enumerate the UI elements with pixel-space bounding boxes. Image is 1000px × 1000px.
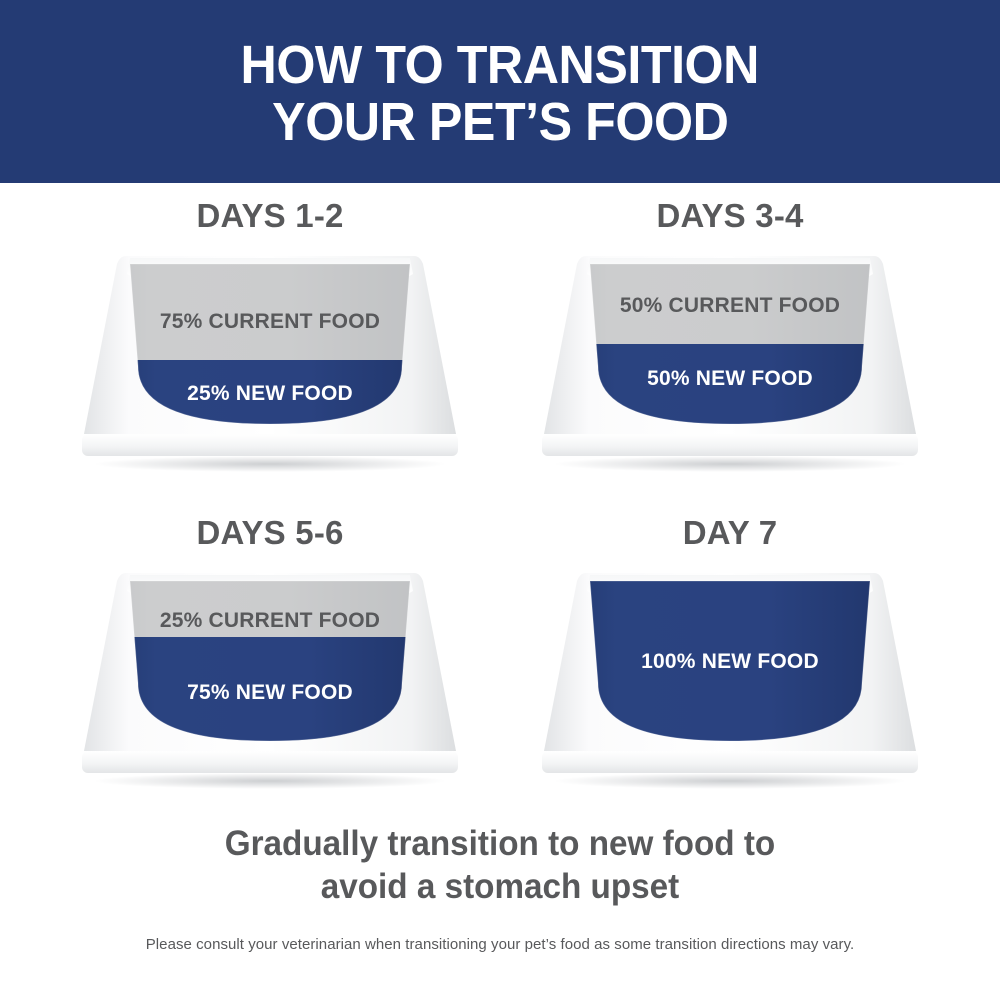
header-banner: HOW TO TRANSITION YOUR PET’S FOOD (0, 0, 1000, 183)
steps-row-bottom: DAYS 5-6 (0, 514, 1000, 795)
steps-grid: DAYS 1-2 (0, 183, 1000, 795)
drop-shadow (554, 456, 906, 472)
step-panel-days-1-2: DAYS 1-2 (40, 197, 500, 478)
step-panel-day-7: DAY 7 (500, 514, 960, 795)
step-title: DAY 7 (683, 514, 778, 552)
feeder-base (82, 434, 458, 456)
footer-disclaimer: Please consult your veterinarian when tr… (0, 936, 1000, 953)
step-title: DAYS 5-6 (196, 514, 343, 552)
step-title: DAYS 3-4 (656, 197, 803, 235)
drop-shadow (94, 773, 446, 789)
bowl-svg (80, 248, 460, 478)
drop-shadow (554, 773, 906, 789)
footer: Gradually transition to new food to avoi… (0, 823, 1000, 953)
header-title-line1: HOW TO TRANSITION (241, 37, 759, 94)
steps-row-top: DAYS 1-2 (0, 197, 1000, 478)
header-title-line2: YOUR PET’S FOOD (272, 94, 728, 151)
bowl-illustration: 50% CURRENT FOOD 50% NEW FOOD (540, 248, 920, 478)
bowl-svg (540, 248, 920, 478)
step-panel-days-3-4: DAYS 3-4 (500, 197, 960, 478)
bowl-svg (80, 565, 460, 795)
step-title: DAYS 1-2 (196, 197, 343, 235)
bowl-illustration: 100% NEW FOOD (540, 565, 920, 795)
bowl-svg (540, 565, 920, 795)
bowl-illustration: 75% CURRENT FOOD 25% NEW FOOD (80, 248, 460, 478)
feeder-base (542, 751, 918, 773)
step-panel-days-5-6: DAYS 5-6 (40, 514, 500, 795)
footer-headline-line1: Gradually transition to new food to (25, 823, 975, 866)
footer-headline-line2: avoid a stomach upset (25, 866, 975, 909)
drop-shadow (94, 456, 446, 472)
feeder-base (542, 434, 918, 456)
feeder-base (82, 751, 458, 773)
bowl-illustration: 25% CURRENT FOOD 75% NEW FOOD (80, 565, 460, 795)
